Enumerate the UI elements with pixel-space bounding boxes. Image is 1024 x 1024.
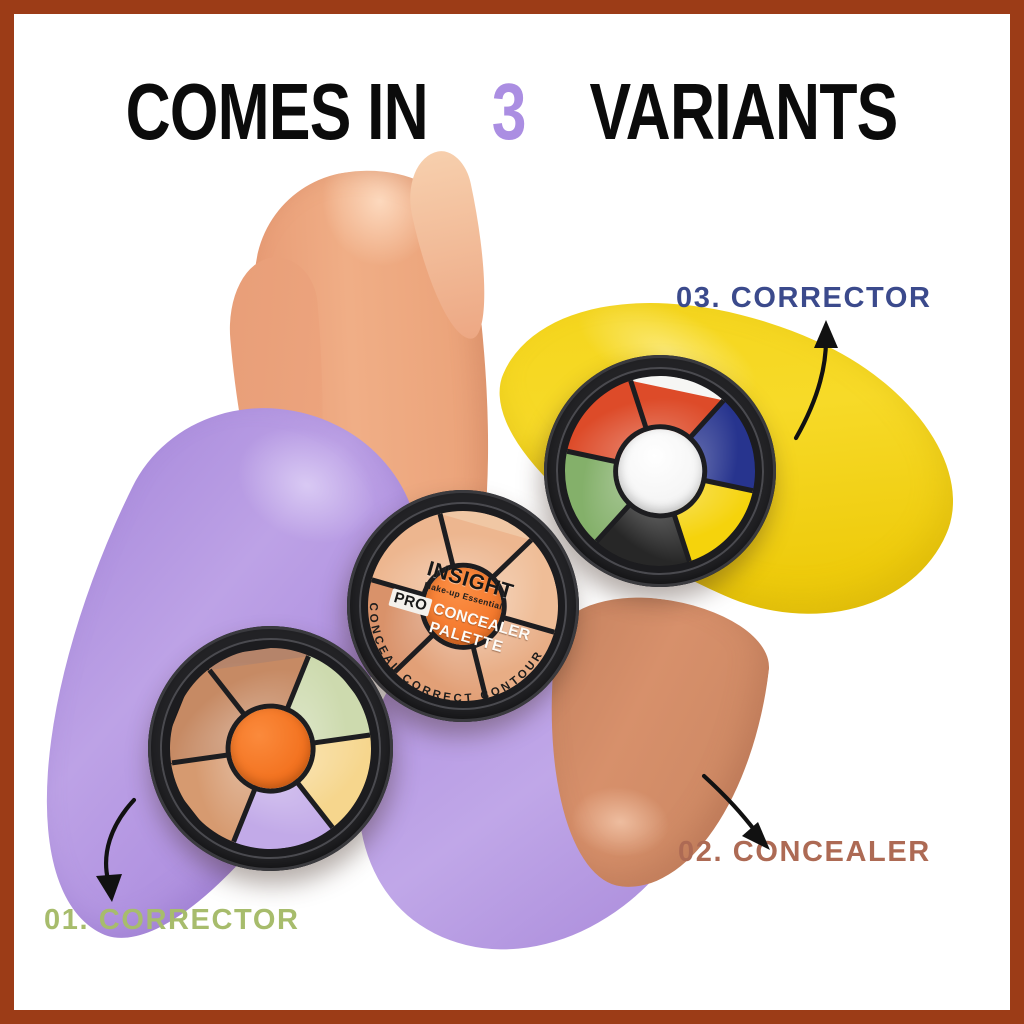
label-concealer-02: 02. CONCEALER bbox=[678, 836, 931, 869]
product-variants-poster: COMES IN3VARIANTS bbox=[0, 0, 1024, 1024]
headline-after: VARIANTS bbox=[590, 66, 898, 158]
headline-variant-count: 3 bbox=[490, 66, 527, 158]
page-title: COMES IN3VARIANTS bbox=[14, 66, 1010, 158]
label-corrector-03: 03. CORRECTOR bbox=[676, 282, 932, 315]
headline-before: COMES IN bbox=[126, 66, 428, 158]
label-corrector-01: 01. CORRECTOR bbox=[44, 904, 300, 937]
poster-canvas: COMES IN3VARIANTS bbox=[14, 14, 1010, 1010]
